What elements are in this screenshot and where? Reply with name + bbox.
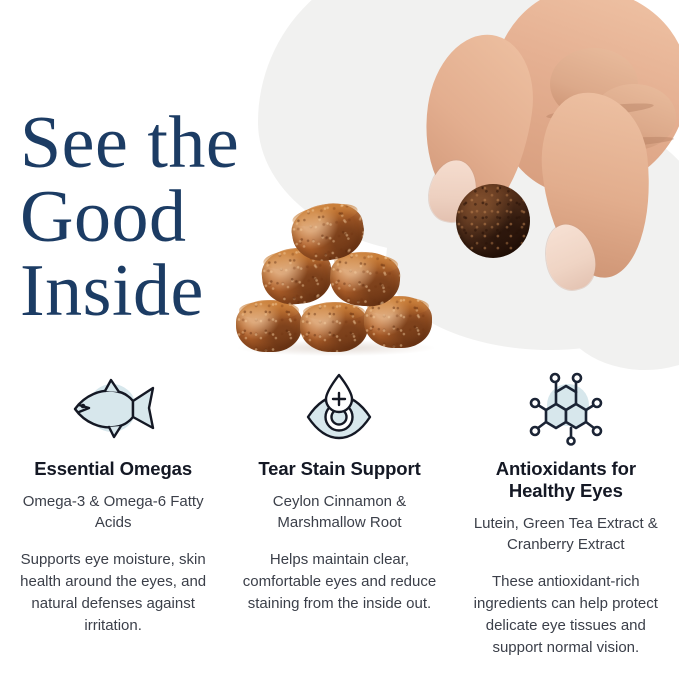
molecule-icon <box>516 372 616 444</box>
hand-holding-chew <box>396 0 679 318</box>
page-title: See the Good Inside <box>20 106 239 328</box>
feature-description: Helps maintain clear, comfortable eyes a… <box>239 549 439 615</box>
feature-description: These antioxidant-rich ingredients can h… <box>466 571 666 659</box>
feature-column-antioxidants: Antioxidants for Healthy Eyes Lutein, Gr… <box>453 372 679 659</box>
feature-subtitle: Lutein, Green Tea Extract & Cranberry Ex… <box>461 513 671 555</box>
feature-column-essential-omegas: Essential Omegas Omega-3 & Omega-6 Fatty… <box>0 372 226 659</box>
feature-title: Essential Omegas <box>34 458 192 480</box>
headline-line-2: Good <box>20 180 239 254</box>
eye-teardrop-icon <box>289 372 389 444</box>
feature-subtitle: Omega-3 & Omega-6 Fatty Acids <box>8 491 218 533</box>
feature-column-tear-stain-support: Tear Stain Support Ceylon Cinnamon & Mar… <box>226 372 452 659</box>
hero-section: See the Good Inside <box>0 0 679 372</box>
feature-subtitle: Ceylon Cinnamon & Marshmallow Root <box>234 491 444 533</box>
feature-title: Tear Stain Support <box>258 458 420 480</box>
feature-columns: Essential Omegas Omega-3 & Omega-6 Fatty… <box>0 372 679 659</box>
chew-piece <box>300 302 368 352</box>
held-chew <box>456 184 530 258</box>
headline-line-1: See the <box>20 106 239 180</box>
feature-title: Antioxidants for Healthy Eyes <box>463 458 668 502</box>
headline-line-3: Inside <box>20 254 239 328</box>
chew-piece <box>236 300 302 352</box>
feature-description: Supports eye moisture, skin health aroun… <box>13 549 213 637</box>
fish-icon <box>63 372 163 444</box>
